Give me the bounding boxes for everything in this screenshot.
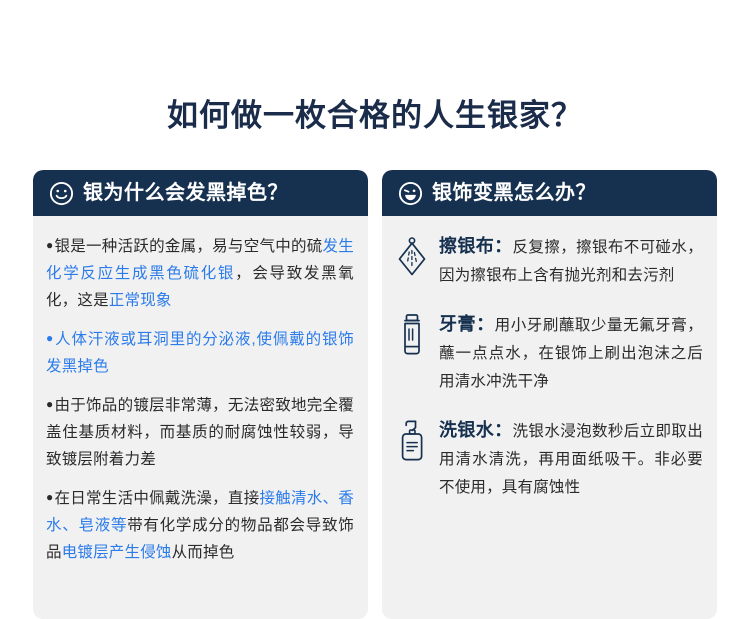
cards-container: 银为什么会发黑掉色？ ●银是一种活跃的金属，易与空气中的硫发生化学反应生成黑色硫… [33,170,717,619]
reasons-list: ●银是一种活跃的金属，易与空气中的硫发生化学反应生成黑色硫化银，会导致发黑氧化，… [46,232,354,566]
tip-label: 洗银水： [439,420,513,440]
page-title: 如何做一枚合格的人生银家？ [0,96,750,136]
body-text: 从而掉色 [172,544,235,561]
tip-text: 牙膏：用小牙刷蘸取少量无氟牙膏，蘸一点点水，在银饰上刷出泡沫之后用清水冲洗干净 [439,310,703,396]
reason-paragraph: ●在日常生活中佩戴洗澡，直接接触清水、香水、皂液等带有化学成分的物品都会导致饰品… [46,484,354,566]
tip-item: 擦银布：反复擦，擦银布不可碰水，因为擦银布上含有抛光剂和去污剂 [395,232,703,290]
card-why-silver-tarnishes: 银为什么会发黑掉色？ ●银是一种活跃的金属，易与空气中的硫发生化学反应生成黑色硫… [33,170,368,619]
infographic-page: 如何做一枚合格的人生银家？ 银为什么会发黑掉色？ ●银是一种活跃的金属，易与空气… [0,0,750,619]
left-card-body: ●银是一种活跃的金属，易与空气中的硫发生化学反应生成黑色硫化银，会导致发黑氧化，… [33,216,368,619]
tip-label: 擦银布： [439,236,513,256]
smiley-face-icon [49,181,74,206]
right-card-header: 银饰变黑怎么办？ [382,170,717,216]
card-how-to-clean: 银饰变黑怎么办？ 擦银布：反复擦，擦银布不可碰水，因为擦银布上含有抛光剂和去污剂… [382,170,717,619]
bullet-icon: ● [46,238,54,252]
body-text: 银是一种活跃的金属，易与空气中的硫 [55,238,323,255]
left-card-title: 银为什么会发黑掉色？ [83,183,288,203]
grinning-face-icon [398,181,423,206]
highlighted-text: 人体汗液或耳洞里的分泌液,使佩戴的银饰发黑掉色 [46,331,354,375]
tip-text: 擦银布：反复擦，擦银布不可碰水，因为擦银布上含有抛光剂和去污剂 [439,232,703,290]
tip-label: 牙膏： [439,314,495,334]
body-text: 在日常生活中佩戴洗澡，直接 [55,490,260,507]
tip-item: 洗银水：洗银水浸泡数秒后立即取出用清水清洗，再用面纸吸干。非必要不使用，具有腐蚀… [395,416,703,502]
body-text: 由于饰品的镀层非常薄，无法密致地完全覆盖住基质材料，而基质的耐腐蚀性较弱，导致镀… [46,397,354,468]
toothpaste-tube-icon [395,310,439,357]
tip-item: 牙膏：用小牙刷蘸取少量无氟牙膏，蘸一点点水，在银饰上刷出泡沫之后用清水冲洗干净 [395,310,703,396]
reason-paragraph: ●由于饰品的镀层非常薄，无法密致地完全覆盖住基质材料，而基质的耐腐蚀性较弱，导致… [46,391,354,473]
tips-list: 擦银布：反复擦，擦银布不可碰水，因为擦银布上含有抛光剂和去污剂牙膏：用小牙刷蘸取… [395,232,703,502]
right-card-title: 银饰变黑怎么办？ [432,183,596,203]
reason-paragraph: ●人体汗液或耳洞里的分泌液,使佩戴的银饰发黑掉色 [46,325,354,380]
reason-paragraph: ●银是一种活跃的金属，易与空气中的硫发生化学反应生成黑色硫化银，会导致发黑氧化，… [46,232,354,314]
pump-bottle-icon [395,416,439,463]
tip-text: 洗银水：洗银水浸泡数秒后立即取出用清水清洗，再用面纸吸干。非必要不使用，具有腐蚀… [439,416,703,502]
highlighted-text: 电镀层产生侵蚀 [62,544,172,561]
bullet-icon: ● [46,490,54,504]
highlighted-text: 正常现象 [109,292,172,309]
bullet-icon: ● [46,331,54,345]
right-card-body: 擦银布：反复擦，擦银布不可碰水，因为擦银布上含有抛光剂和去污剂牙膏：用小牙刷蘸取… [382,216,717,619]
bullet-icon: ● [46,397,54,411]
polishing-cloth-icon [395,232,439,279]
left-card-header: 银为什么会发黑掉色？ [33,170,368,216]
